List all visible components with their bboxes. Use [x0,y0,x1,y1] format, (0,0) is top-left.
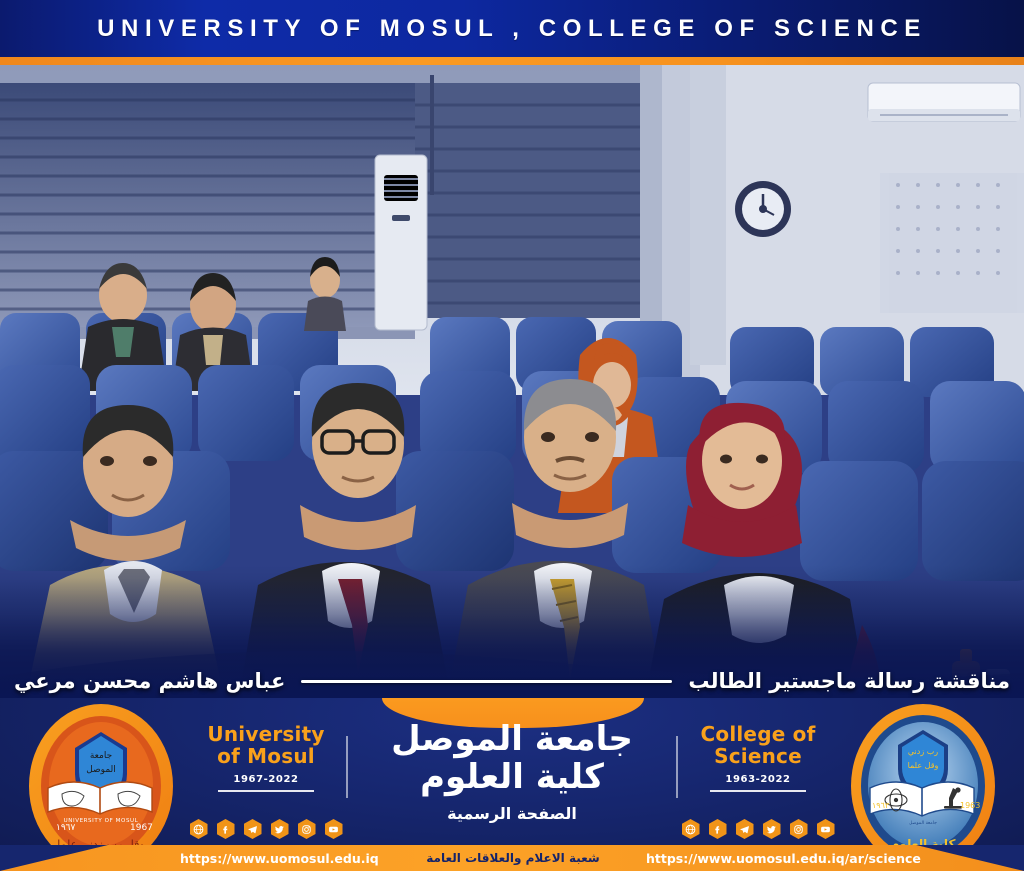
footer-url-bar: https://www.uomosul.edu.iq شعبة الاعلام … [0,845,1024,871]
caption: مناقشة رسالة ماجستير الطالب عباس هاشم مح… [0,664,1024,698]
auditorium-scene-illustration [0,65,1024,698]
svg-text:1963: 1963 [960,801,980,810]
college-social-links[interactable] [668,819,848,839]
wall-clock-icon [735,181,791,237]
college-underline [710,790,806,792]
facebook-icon[interactable] [709,819,727,839]
header-accent-rule [0,57,1024,65]
youtube-icon[interactable] [325,819,343,839]
university-years: 1967-2022 [176,774,356,785]
footer-divider-left [346,736,348,798]
website-icon[interactable] [682,819,700,839]
caption-student-name: عباس هاشم محسن مرعي [14,671,285,692]
air-conditioner-icon [868,83,1020,121]
facebook-icon[interactable] [217,819,235,839]
svg-text:جامعة: جامعة [90,751,112,761]
university-underline [218,790,314,792]
instagram-icon[interactable] [298,819,316,839]
svg-text:رب زدني: رب زدني [908,747,938,756]
university-name-line1: University [176,724,356,746]
twitter-icon[interactable] [763,819,781,839]
telegram-icon[interactable] [736,819,754,839]
youtube-icon[interactable] [817,819,835,839]
center-official-page-ar: الصفحة الرسمية [362,804,662,823]
window-blinds-2 [415,75,665,318]
university-social-links[interactable] [176,819,356,839]
svg-text:الموصل: الموصل [86,765,116,775]
media-department-label: شعبة الاعلام والعلاقات العامة [412,851,614,865]
footer-center-block: جامعة الموصل كلية العلوم الصفحة الرسمية [362,720,662,823]
svg-text:1967: 1967 [130,823,153,833]
twitter-icon[interactable] [271,819,289,839]
center-university-ar: جامعة الموصل [362,720,662,758]
svg-text:١٩٦٣: ١٩٦٣ [872,801,890,810]
page-title: UNIVERSITY OF MOSUL , COLLEGE OF SCIENCE [97,15,927,43]
page-header: UNIVERSITY OF MOSUL , COLLEGE OF SCIENCE [0,0,1024,57]
university-website-url[interactable]: https://www.uomosul.edu.iq [180,851,379,866]
telegram-icon[interactable] [244,819,262,839]
university-block: University of Mosul 1967-2022 [176,724,356,792]
perforated-panel [880,173,1024,313]
university-name-line2: of Mosul [176,746,356,768]
event-photo [0,65,1024,698]
website-icon[interactable] [190,819,208,839]
instagram-icon[interactable] [790,819,808,839]
college-website-url[interactable]: https://www.uomosul.edu.iq/ar/science [646,851,921,866]
url-bar-left-cut [0,845,150,871]
svg-text:وقل علما: وقل علما [908,761,939,770]
center-college-ar: كلية العلوم [362,758,662,796]
caption-divider-line [301,680,672,683]
college-name-line2: Science [668,746,848,768]
svg-text:UNIVERSITY OF MOSUL: UNIVERSITY OF MOSUL [64,818,139,824]
svg-text:١٩٦٧: ١٩٦٧ [56,823,76,833]
standing-ac-unit [375,155,427,330]
college-name-line1: College of [668,724,848,746]
svg-text:جامعة الموصل: جامعة الموصل [909,821,937,826]
caption-event-text: مناقشة رسالة ماجستير الطالب [688,671,1010,692]
college-years: 1963-2022 [668,774,848,785]
college-block: College of Science 1963-2022 [668,724,848,792]
